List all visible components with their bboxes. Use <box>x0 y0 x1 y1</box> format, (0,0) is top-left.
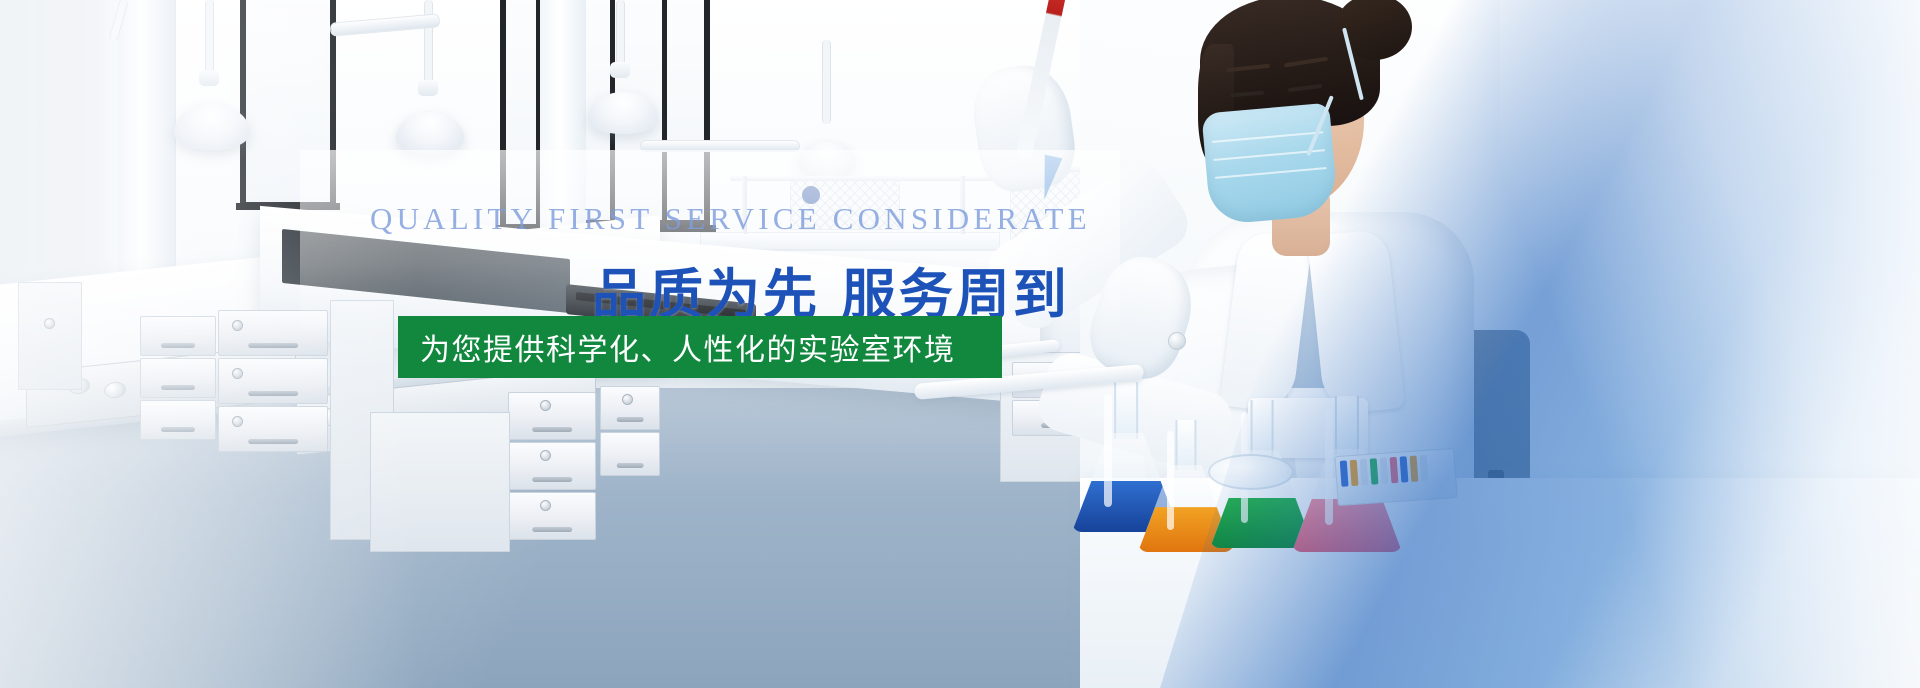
lamp-rail <box>640 140 800 152</box>
lamp-arm <box>424 0 433 84</box>
drawer <box>600 386 660 430</box>
lamp-joint <box>199 70 219 86</box>
drawer <box>140 358 216 398</box>
pipette-tip-rack <box>1334 448 1457 506</box>
cabinet-lock <box>232 368 243 379</box>
drawer <box>218 406 328 452</box>
face-mask <box>1201 103 1338 226</box>
cabinet-lock <box>540 400 551 411</box>
drawer <box>600 432 660 476</box>
drawer <box>508 442 596 490</box>
hero-banner: QUALITY FIRST SERVICE CONSIDERATE 品质为先 服… <box>0 0 1920 688</box>
shelf-post <box>960 176 965 234</box>
lamp-joint <box>418 80 438 96</box>
cabinet-lock <box>622 394 633 405</box>
banner-subtitle-text: 为您提供科学化、人性化的实验室环境 <box>420 325 956 369</box>
drawer <box>218 358 328 404</box>
lamp-arm <box>205 0 214 74</box>
banner-subtitle-bar: 为您提供科学化、人性化的实验室环境 <box>398 316 1002 378</box>
drawer <box>218 310 328 356</box>
cabinet-lock <box>44 318 55 329</box>
pendant-lamp <box>798 142 856 176</box>
scientist-scene <box>1080 0 1920 688</box>
window <box>500 0 542 230</box>
cabinet <box>18 282 82 390</box>
drawer <box>508 392 596 440</box>
drawer <box>140 316 216 356</box>
wall-label-badge <box>802 186 820 204</box>
shelf-post <box>742 176 747 234</box>
wall-column <box>118 0 176 300</box>
drawer <box>140 400 216 440</box>
window <box>240 0 336 208</box>
drawer <box>508 492 596 540</box>
cabinet-lock <box>540 500 551 511</box>
cabinet-lock <box>232 320 243 331</box>
lamp-joint <box>610 62 630 78</box>
lamp-arm <box>616 0 625 66</box>
petri-dish <box>1208 454 1294 490</box>
cuff-button <box>1168 332 1186 350</box>
lamp-arm <box>822 40 831 124</box>
cabinet-lock <box>540 450 551 461</box>
back-bench <box>700 232 1000 250</box>
cabinet-lock <box>232 416 243 427</box>
cabinet <box>370 412 510 552</box>
window-pillar <box>540 0 586 250</box>
